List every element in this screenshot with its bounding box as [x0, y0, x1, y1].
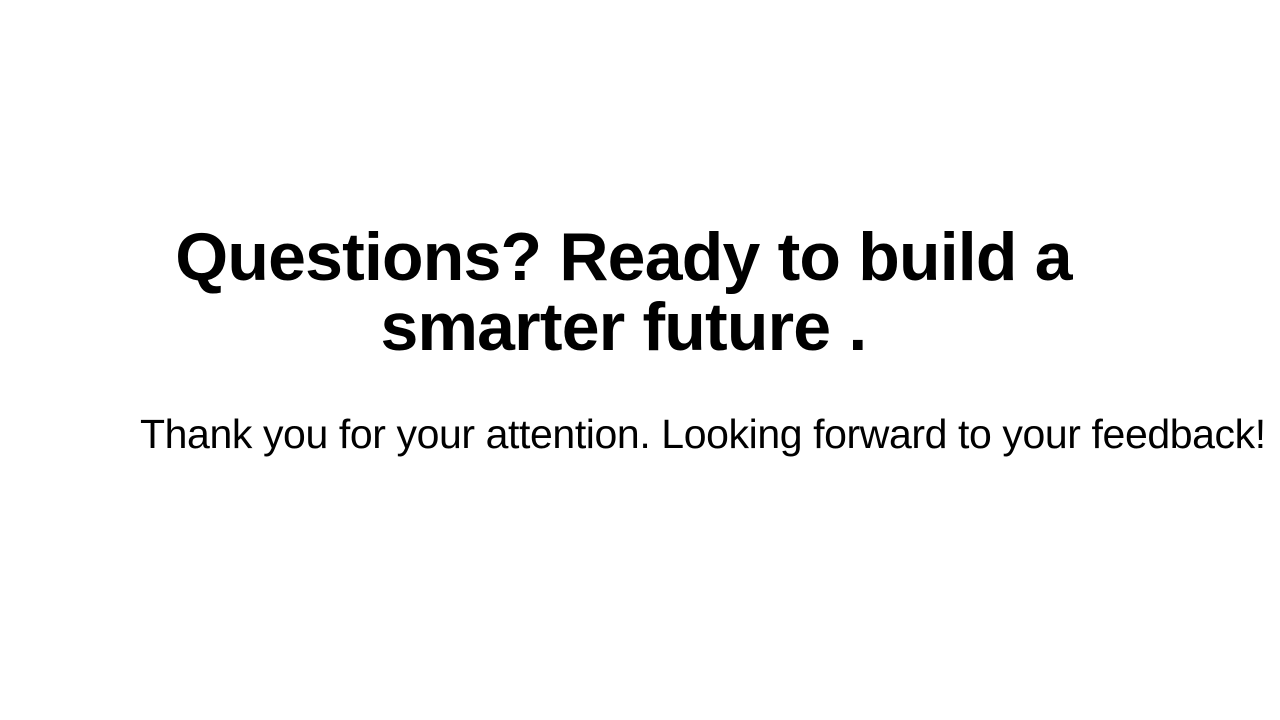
page-title: Questions? Ready to build a smarter futu…	[140, 222, 1107, 362]
slide-subtitle: Thank you for your attention. Looking fo…	[140, 409, 1266, 459]
presentation-slide: Questions? Ready to build a smarter futu…	[0, 0, 1280, 720]
slide-subtitle-container: Thank you for your attention. Looking fo…	[140, 409, 1107, 459]
slide-content-block: Questions? Ready to build a smarter futu…	[140, 222, 1107, 459]
